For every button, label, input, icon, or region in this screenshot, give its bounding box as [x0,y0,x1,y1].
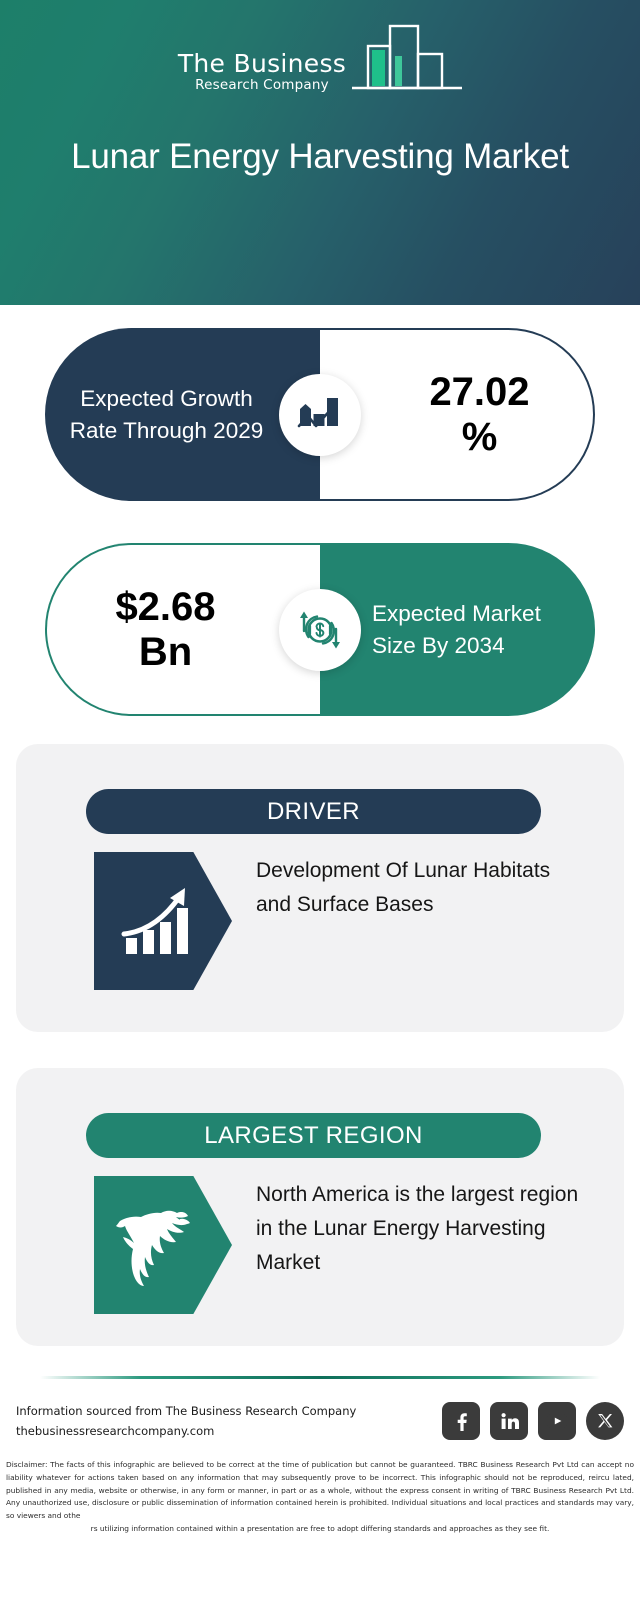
driver-heading-pill: DRIVER [86,789,541,834]
x-twitter-icon[interactable] [586,1402,624,1440]
logo-secondary-text: Research Company [195,77,329,95]
bar-chart-logo-mark [352,24,462,99]
region-description: North America is the largest region in t… [256,1176,584,1314]
facebook-icon[interactable] [442,1402,480,1440]
growth-value-unit: % [462,415,498,459]
stat-card-growth-rate: Expected Growth Rate Through 2029 27.02 … [45,328,595,501]
region-heading-label: LARGEST REGION [204,1122,423,1150]
market-size-label-half: Expected Market Size By 2034 [320,543,595,716]
driver-description: Development Of Lunar Habitats and Surfac… [256,852,584,990]
north-america-map-icon [94,1176,232,1314]
market-size-label: Expected Market Size By 2034 [320,598,595,662]
disclaimer-last-line: rs utilizing information contained withi… [6,1523,634,1536]
driver-body: Development Of Lunar Habitats and Surfac… [94,852,584,990]
company-logo: The Business Research Company [0,24,640,101]
linkedin-icon[interactable] [490,1402,528,1440]
largest-region-section: LARGEST REGION North America is the larg… [16,1068,624,1346]
source-website[interactable]: thebusinessresearchcompany.com [16,1421,356,1441]
footer: Information sourced from The Business Re… [0,1379,640,1441]
stat-card-market-size: $2.68 Bn Expected Market Size By 2034 [45,543,595,716]
disclaimer-body: Disclaimer: The facts of this infographi… [6,1460,634,1520]
driver-heading-label: DRIVER [267,798,360,826]
header-banner: The Business Research Company Lunar Ener… [0,0,640,305]
growth-chart-icon [279,374,361,456]
market-size-value-unit: Bn [139,630,192,674]
page-title: Lunar Energy Harvesting Market [50,136,590,179]
dollar-refresh-icon [279,589,361,671]
growth-bars-arrow-icon [94,852,232,990]
source-line-1: Information sourced from The Business Re… [16,1401,356,1421]
youtube-icon[interactable] [538,1402,576,1440]
growth-value-number: 27.02 [429,370,529,414]
growth-value-half: 27.02 % [320,328,595,501]
market-size-value-number: $2.68 [115,585,215,629]
region-body: North America is the largest region in t… [94,1176,584,1314]
stat-cards: Expected Growth Rate Through 2029 27.02 … [0,328,640,716]
social-links [442,1402,624,1440]
disclaimer-text: Disclaimer: The facts of this infographi… [6,1459,634,1535]
source-info: Information sourced from The Business Re… [16,1401,356,1441]
region-heading-pill: LARGEST REGION [86,1113,541,1158]
driver-section: DRIVER Development Of Lunar Habitats and… [16,744,624,1032]
logo-primary-text: The Business [178,51,346,77]
